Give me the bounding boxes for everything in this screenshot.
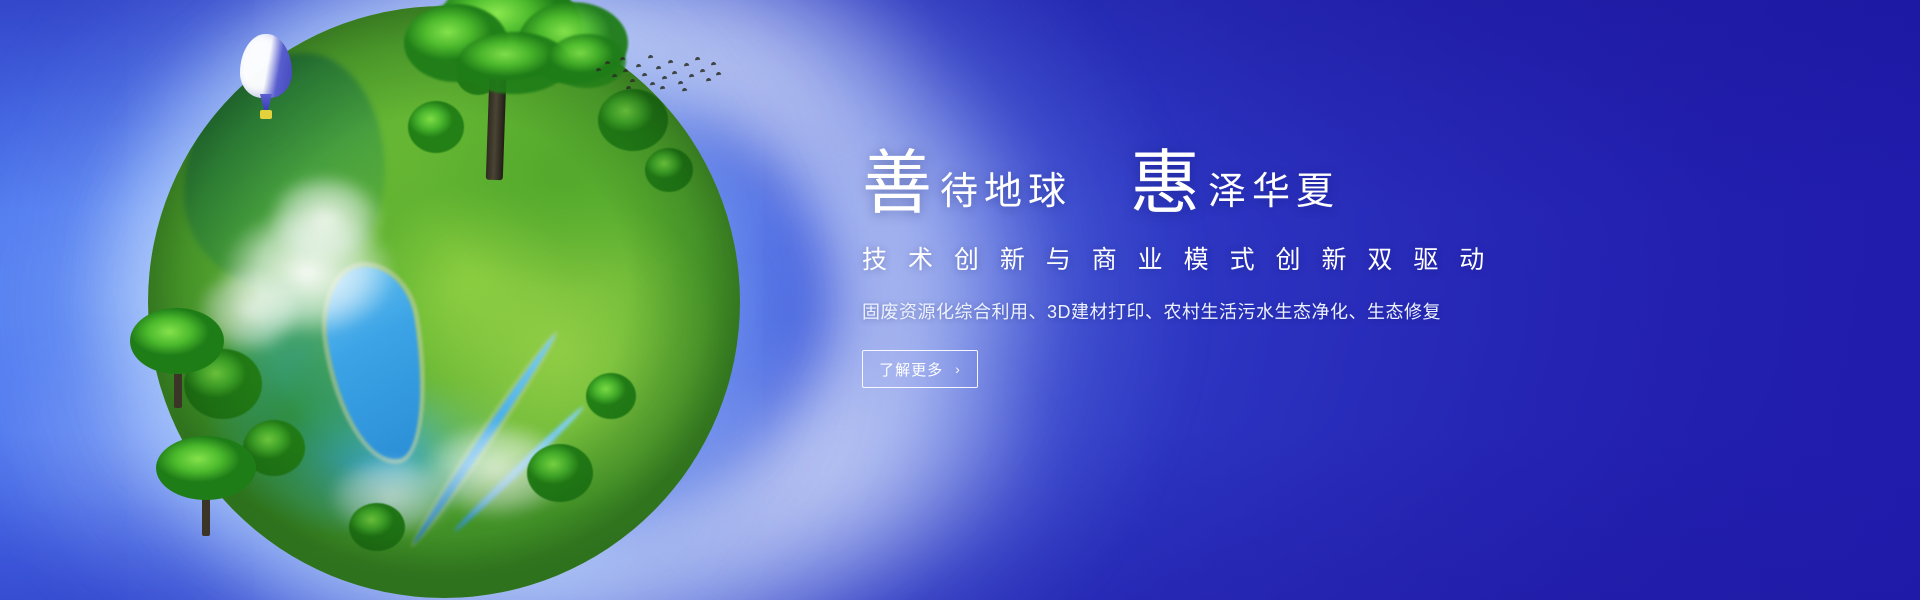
tree-bush	[527, 444, 593, 502]
tree-bush	[349, 503, 405, 551]
learn-more-label: 了解更多	[879, 359, 943, 380]
headline-part2-large: 惠	[1130, 148, 1200, 218]
bird-icon	[648, 55, 653, 59]
planet-cloud	[420, 420, 574, 521]
tree-bush	[645, 148, 693, 192]
bird-icon	[689, 74, 694, 78]
tree-bush	[586, 373, 636, 419]
river-shape	[452, 404, 587, 535]
bird-icon	[650, 82, 655, 86]
chevron-right-icon: ›	[955, 362, 961, 376]
learn-more-button[interactable]: 了解更多 ›	[862, 350, 978, 388]
bird-icon	[706, 78, 711, 82]
bird-icon	[620, 57, 625, 61]
bird-icon	[700, 69, 705, 73]
bird-icon	[626, 86, 631, 90]
planet-cloud	[219, 207, 397, 337]
page-title: 善 待地球 惠 泽华夏	[862, 126, 1622, 218]
hero-content: 善 待地球 惠 泽华夏 技 术 创 新 与 商 业 模 式 创 新 双 驱 动 …	[862, 126, 1622, 388]
bird-icon	[630, 79, 635, 83]
river-shape	[409, 332, 558, 545]
hero-description: 固废资源化综合利用、3D建材打印、农村生活污水生态净化、生态修复	[862, 298, 1622, 324]
planet-cloud	[326, 456, 456, 539]
planet-cloud	[266, 172, 384, 267]
tree-icon	[122, 300, 232, 410]
bird-icon	[623, 69, 628, 73]
bird-icon	[605, 61, 610, 65]
bird-icon	[636, 64, 641, 68]
bird-icon	[662, 76, 667, 80]
headline-part1-small: 待地球	[940, 172, 1072, 218]
tree-icon	[146, 430, 266, 540]
balloon-neck	[260, 94, 272, 110]
bird-icon	[642, 73, 647, 77]
bird-icon	[682, 88, 687, 92]
bird-icon	[612, 74, 617, 78]
balloon-basket	[260, 110, 272, 119]
bird-icon	[656, 66, 661, 70]
lake-shape	[317, 261, 435, 468]
tree-canopy	[156, 436, 256, 500]
headline-part1-large: 善	[862, 148, 932, 218]
bird-icon	[684, 63, 689, 67]
headline-part2-small: 泽华夏	[1208, 172, 1340, 218]
bird-icon	[695, 57, 700, 61]
bird-icon	[672, 71, 677, 75]
bird-flock-icon	[592, 52, 720, 96]
bird-icon	[678, 81, 683, 85]
bird-icon	[596, 68, 601, 72]
hot-air-balloon-icon	[236, 34, 296, 130]
bird-icon	[668, 60, 673, 64]
hero-subtitle: 技 术 创 新 与 商 业 模 式 创 新 双 驱 动	[862, 240, 1622, 276]
hero-banner: 善 待地球 惠 泽华夏 技 术 创 新 与 商 业 模 式 创 新 双 驱 动 …	[0, 0, 1920, 600]
bird-icon	[660, 86, 665, 90]
bird-icon	[711, 62, 716, 66]
balloon-envelope	[240, 34, 292, 98]
grass-patch	[385, 184, 728, 516]
tree-canopy	[130, 308, 224, 374]
